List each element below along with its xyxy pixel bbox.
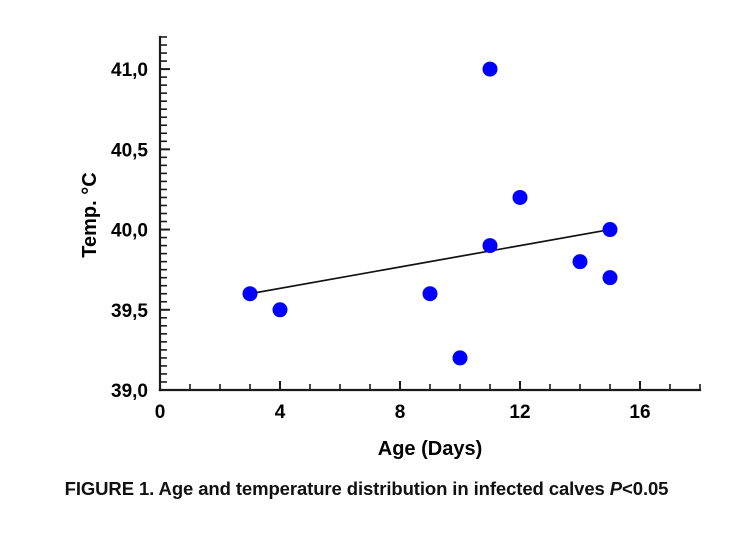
y-tick-label: 39,0 <box>111 381 148 402</box>
data-point <box>483 62 498 77</box>
y-axis-tick-labels: 39,039,540,040,541,0 <box>111 60 148 402</box>
data-points <box>243 62 618 366</box>
axis-ticks <box>160 37 700 390</box>
x-axis-tick-labels: 0481216 <box>155 402 651 423</box>
data-point <box>603 270 618 285</box>
data-point <box>483 238 498 253</box>
caption-p-value: <0.05 <box>622 478 668 499</box>
x-axis-title: Age (Days) <box>378 438 482 460</box>
caption-p-symbol: P <box>610 478 622 499</box>
regression-line <box>250 230 610 294</box>
data-point <box>453 350 468 365</box>
chart-canvas: 39,039,540,040,541,0 0481216 Temp. °C Ag… <box>0 0 733 470</box>
x-tick-label: 8 <box>395 402 406 423</box>
data-point <box>513 190 528 205</box>
x-tick-label: 12 <box>509 402 530 423</box>
x-tick-label: 16 <box>629 402 650 423</box>
x-tick-label: 0 <box>155 402 166 423</box>
figure-caption: FIGURE 1. Age and temperature distributi… <box>0 478 733 500</box>
data-point <box>573 254 588 269</box>
data-point <box>603 222 618 237</box>
axes <box>160 37 700 390</box>
y-axis-title: Temp. °C <box>79 172 101 257</box>
y-tick-label: 41,0 <box>111 60 148 81</box>
y-tick-label: 39,5 <box>111 301 148 322</box>
figure-container: 39,039,540,040,541,0 0481216 Temp. °C Ag… <box>0 0 733 534</box>
trendline <box>250 230 610 294</box>
x-tick-label: 4 <box>275 402 286 423</box>
data-point <box>243 286 258 301</box>
data-point <box>273 302 288 317</box>
data-point <box>423 286 438 301</box>
caption-text: FIGURE 1. Age and temperature distributi… <box>65 478 610 499</box>
y-tick-label: 40,5 <box>111 140 148 161</box>
scatter-plot: 39,039,540,040,541,0 0481216 Temp. °C Ag… <box>0 0 733 470</box>
y-tick-label: 40,0 <box>111 221 148 242</box>
